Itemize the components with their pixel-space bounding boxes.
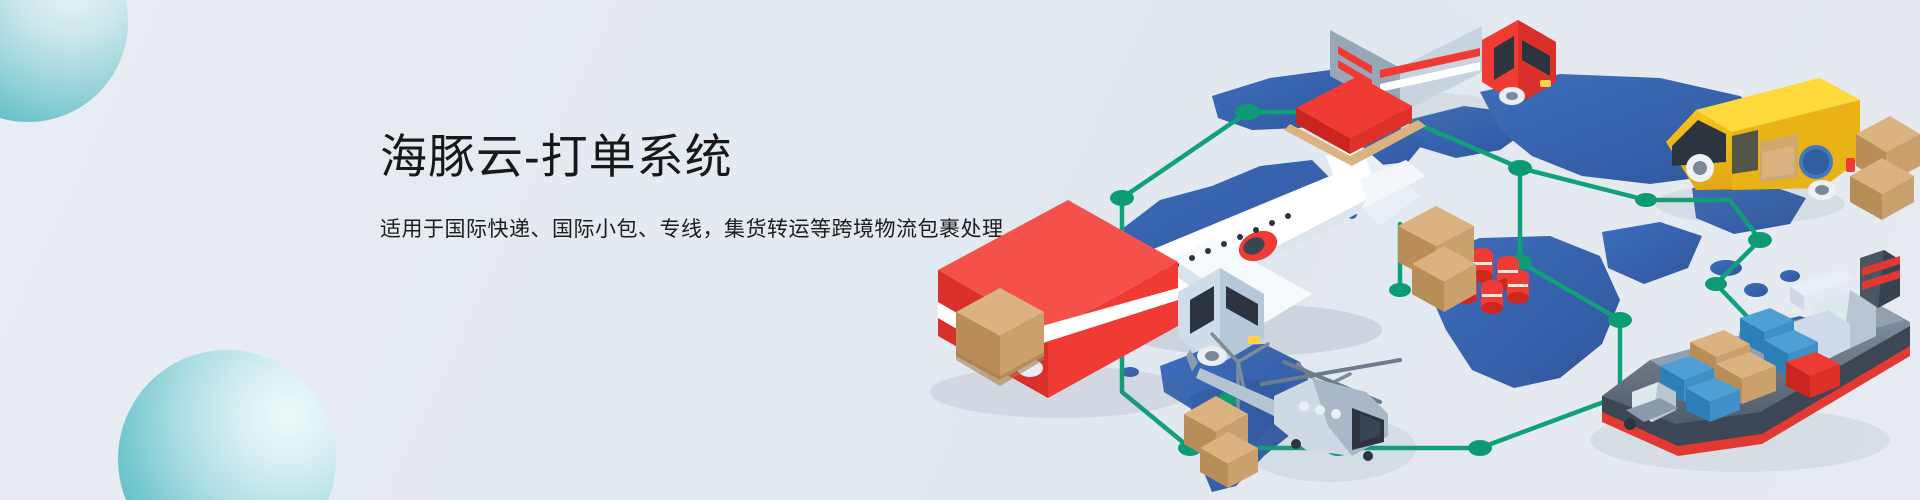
cardboard-boxes (1850, 116, 1920, 220)
decorative-circle-bottom-left (118, 350, 336, 500)
page-banner: 海豚云-打单系统 适用于国际快递、国际小包、专线，集货转运等跨境物流包裹处理 (0, 0, 1920, 500)
container-ship (1590, 250, 1910, 472)
decorative-circle-top-left (0, 0, 128, 122)
cardboard-boxes (1398, 206, 1476, 312)
hero-illustration (860, 0, 1920, 500)
